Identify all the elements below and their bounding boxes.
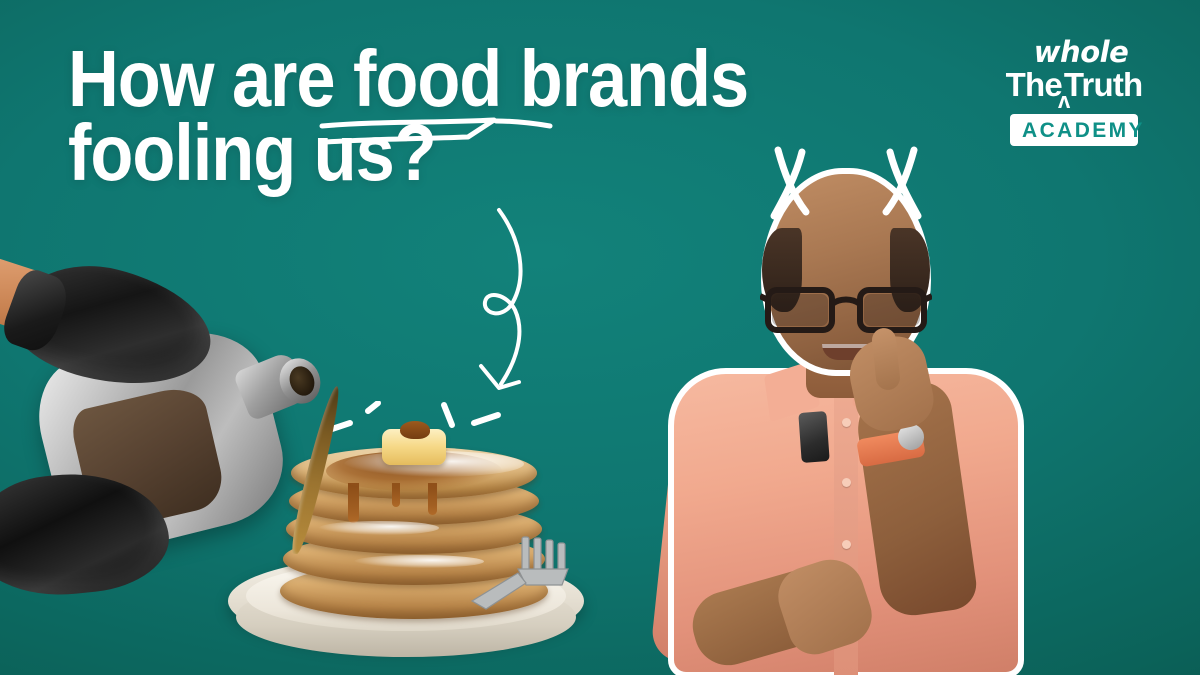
- fork-icon: [456, 529, 586, 615]
- logo-the-text: The: [1006, 68, 1062, 101]
- lapel-mic-icon: [798, 411, 829, 463]
- thumbnail-canvas: How are food brands fooling us? whole Th…: [0, 0, 1200, 675]
- shirt-button-1: [842, 418, 851, 427]
- syrup-drip-left: [348, 483, 359, 523]
- sparkle-icon: [316, 401, 512, 463]
- academy-label: ACADEMY: [1022, 120, 1126, 141]
- logo-whole-text: whole: [998, 38, 1164, 67]
- logo-caret-icon: ʌ: [1058, 90, 1070, 112]
- title-block: How are food brands fooling us?: [68, 42, 888, 191]
- presenter: [636, 132, 1056, 675]
- shirt-button-3: [842, 540, 851, 549]
- title-line1-part2: brands: [501, 34, 748, 123]
- glasses-icon: [760, 280, 932, 340]
- brand-logo[interactable]: whole The Truth ʌ ACADEMY: [984, 38, 1164, 146]
- logo-thetruth-row: The Truth ʌ: [984, 68, 1164, 101]
- academy-badge[interactable]: ACADEMY: [1010, 114, 1138, 146]
- title-line-1: How are food brands: [68, 42, 790, 116]
- title-line-2: fooling us?: [68, 116, 790, 190]
- curly-arrow-icon: [455, 200, 575, 400]
- shirt-button-2: [842, 478, 851, 487]
- logo-truth-text: Truth: [1064, 68, 1142, 101]
